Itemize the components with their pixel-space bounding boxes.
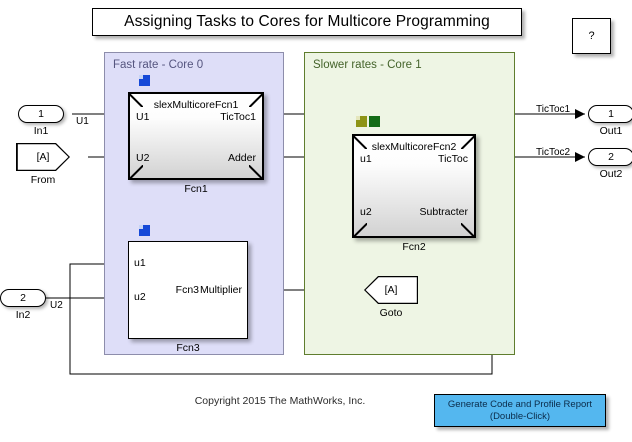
model-canvas[interactable]: Fast rate - Core 0 Slower rates - Core 1… xyxy=(0,0,632,442)
inport-in1-number: 1 xyxy=(38,108,44,120)
block-fcn1-input-u1: U1 xyxy=(136,111,149,123)
block-fcn3-inner-left-text: Fcn3 xyxy=(176,284,199,296)
fcn2-task-badge-olive-icon xyxy=(356,116,367,127)
title-banner[interactable]: Assigning Tasks to Cores for Multicore P… xyxy=(92,8,522,36)
outport-out1-caption: Out1 xyxy=(588,125,632,137)
block-fcn1[interactable]: slexMulticoreFcn1 U1 U2 TicToc1 Adder xyxy=(128,92,264,180)
generate-code-button[interactable]: Generate Code and Profile Report (Double… xyxy=(434,394,606,427)
block-fcn2-caption: Fcn2 xyxy=(352,241,476,253)
goto-block-tag: [A] xyxy=(385,284,398,296)
fcn3-task-badge-icon xyxy=(139,225,150,236)
inport-in2[interactable]: 2 xyxy=(0,289,46,307)
help-button[interactable]: ? xyxy=(572,18,611,54)
from-block-caption: From xyxy=(16,174,70,186)
from-block[interactable]: [A] xyxy=(16,143,70,171)
outport-out2[interactable]: 2 xyxy=(588,148,632,166)
block-fcn3-input-u2: u2 xyxy=(134,291,146,303)
inport-in1-caption: In1 xyxy=(18,125,64,137)
generate-code-button-line2: (Double-Click) xyxy=(490,411,550,423)
inport-in1[interactable]: 1 xyxy=(18,105,64,123)
block-fcn2-model-name: slexMulticoreFcn2 xyxy=(354,141,474,153)
outport-out2-caption: Out2 xyxy=(588,168,632,180)
generate-code-button-line1: Generate Code and Profile Report xyxy=(448,399,592,411)
inport-in2-number: 2 xyxy=(20,292,26,304)
block-fcn1-output-adder: Adder xyxy=(228,152,256,164)
signal-label-u1: U1 xyxy=(76,116,89,127)
signal-label-u2: U2 xyxy=(50,300,63,311)
block-fcn1-model-name: slexMulticoreFcn1 xyxy=(130,99,262,111)
inport-in2-caption: In2 xyxy=(0,309,46,321)
block-fcn2-input-u2: u2 xyxy=(360,206,372,218)
signal-label-tictoc2: TicToc2 xyxy=(536,147,570,158)
region-core1-label: Slower rates - Core 1 xyxy=(313,59,422,71)
outport-out1-number: 1 xyxy=(608,108,614,120)
outport-out2-number: 2 xyxy=(608,151,614,163)
block-fcn1-input-u2: U2 xyxy=(136,152,149,164)
block-fcn2-output-tictoc: TicToc xyxy=(438,153,468,165)
block-fcn2-input-u1: u1 xyxy=(360,153,372,165)
from-block-tag: [A] xyxy=(37,151,50,163)
region-core0-label: Fast rate - Core 0 xyxy=(113,59,203,71)
corner-mark-icon xyxy=(354,223,367,236)
corner-mark-icon xyxy=(249,165,262,178)
goto-block-caption: Goto xyxy=(364,307,418,319)
block-fcn3-inner-right-text: Multiplier xyxy=(200,284,242,296)
block-fcn2[interactable]: slexMulticoreFcn2 u1 u2 TicToc Subtracte… xyxy=(352,134,476,238)
fcn2-task-badge-green-icon xyxy=(369,116,380,127)
page-title: Assigning Tasks to Cores for Multicore P… xyxy=(124,13,490,31)
block-fcn3-caption: Fcn3 xyxy=(128,342,248,354)
block-fcn1-output-tictoc1: TicToc1 xyxy=(220,111,256,123)
corner-mark-icon xyxy=(130,165,143,178)
question-mark-icon: ? xyxy=(588,30,594,42)
corner-mark-icon xyxy=(461,223,474,236)
block-fcn3-input-u1: u1 xyxy=(134,257,146,269)
block-fcn1-caption: Fcn1 xyxy=(128,183,264,195)
outport-out1[interactable]: 1 xyxy=(588,105,632,123)
block-fcn2-output-subtracter: Subtracter xyxy=(420,206,468,218)
signal-label-tictoc1: TicToc1 xyxy=(536,104,570,115)
fcn1-task-badge-icon xyxy=(139,75,150,86)
block-fcn3[interactable]: u1 u2 Fcn3 Multiplier xyxy=(128,241,248,339)
